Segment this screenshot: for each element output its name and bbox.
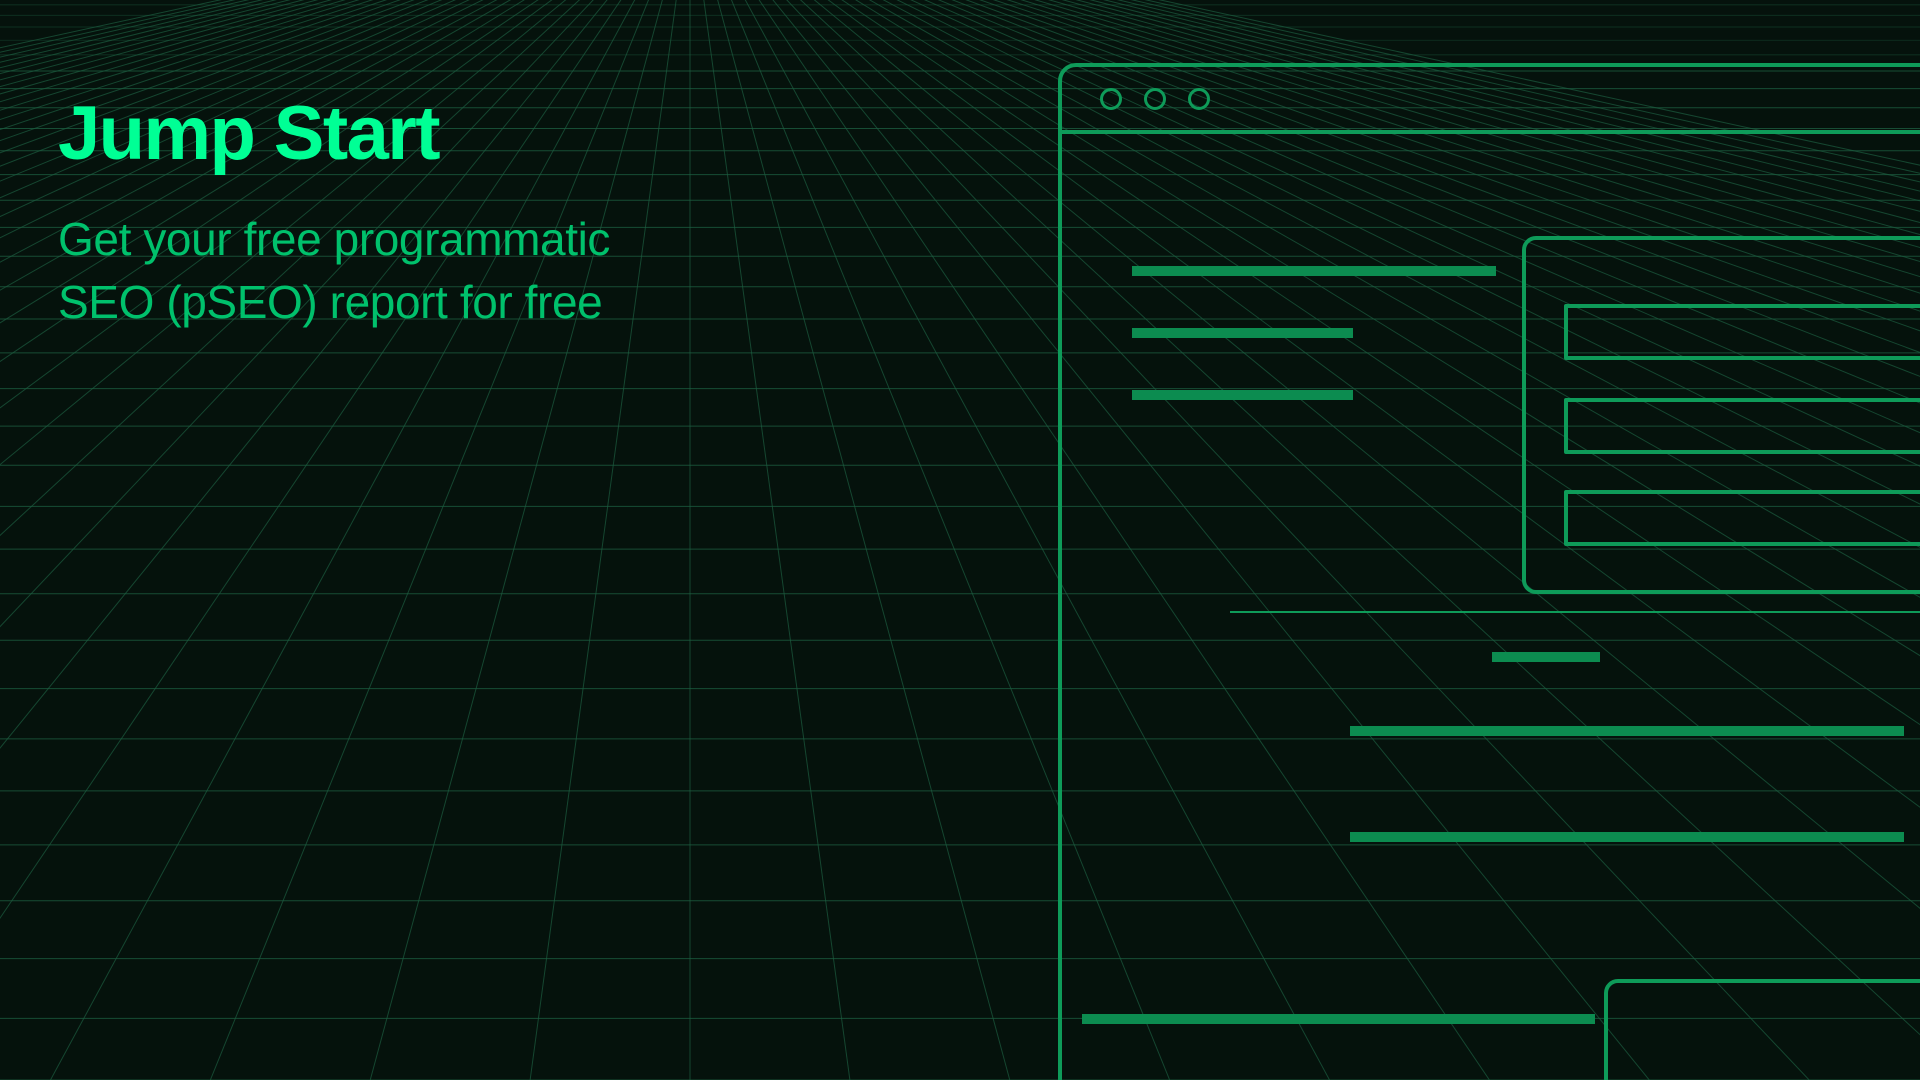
hero-banner: Jump Start Get your free programmatic SE… (0, 0, 1920, 1080)
heading-bar (1132, 266, 1496, 276)
form-field-3[interactable] (1564, 490, 1920, 546)
window-content (1062, 134, 1920, 1080)
caption-bar (1132, 390, 1353, 400)
short-tag-bar (1492, 652, 1600, 662)
footer-bar-1 (1082, 1014, 1595, 1024)
subheading-bar (1132, 328, 1353, 338)
form-card (1522, 236, 1920, 594)
window-controls (1100, 88, 1210, 110)
results-card (1604, 979, 1920, 1080)
close-dot-icon[interactable] (1100, 88, 1122, 110)
form-field-2[interactable] (1564, 398, 1920, 454)
page-title: Jump Start (58, 96, 938, 172)
paragraph-bar-1 (1350, 726, 1904, 736)
subtitle-line-2: SEO (pSEO) report for free (58, 271, 938, 334)
page-subtitle: Get your free programmatic SEO (pSEO) re… (58, 208, 938, 333)
window-titlebar (1062, 67, 1920, 134)
paragraph-bar-2 (1350, 832, 1904, 842)
hero-copy: Jump Start Get your free programmatic SE… (58, 96, 938, 333)
form-field-1[interactable] (1564, 304, 1920, 360)
minimize-dot-icon[interactable] (1144, 88, 1166, 110)
browser-window-mockup (1058, 63, 1920, 1080)
maximize-dot-icon[interactable] (1188, 88, 1210, 110)
subtitle-line-1: Get your free programmatic (58, 208, 938, 271)
section-divider (1230, 611, 1920, 613)
